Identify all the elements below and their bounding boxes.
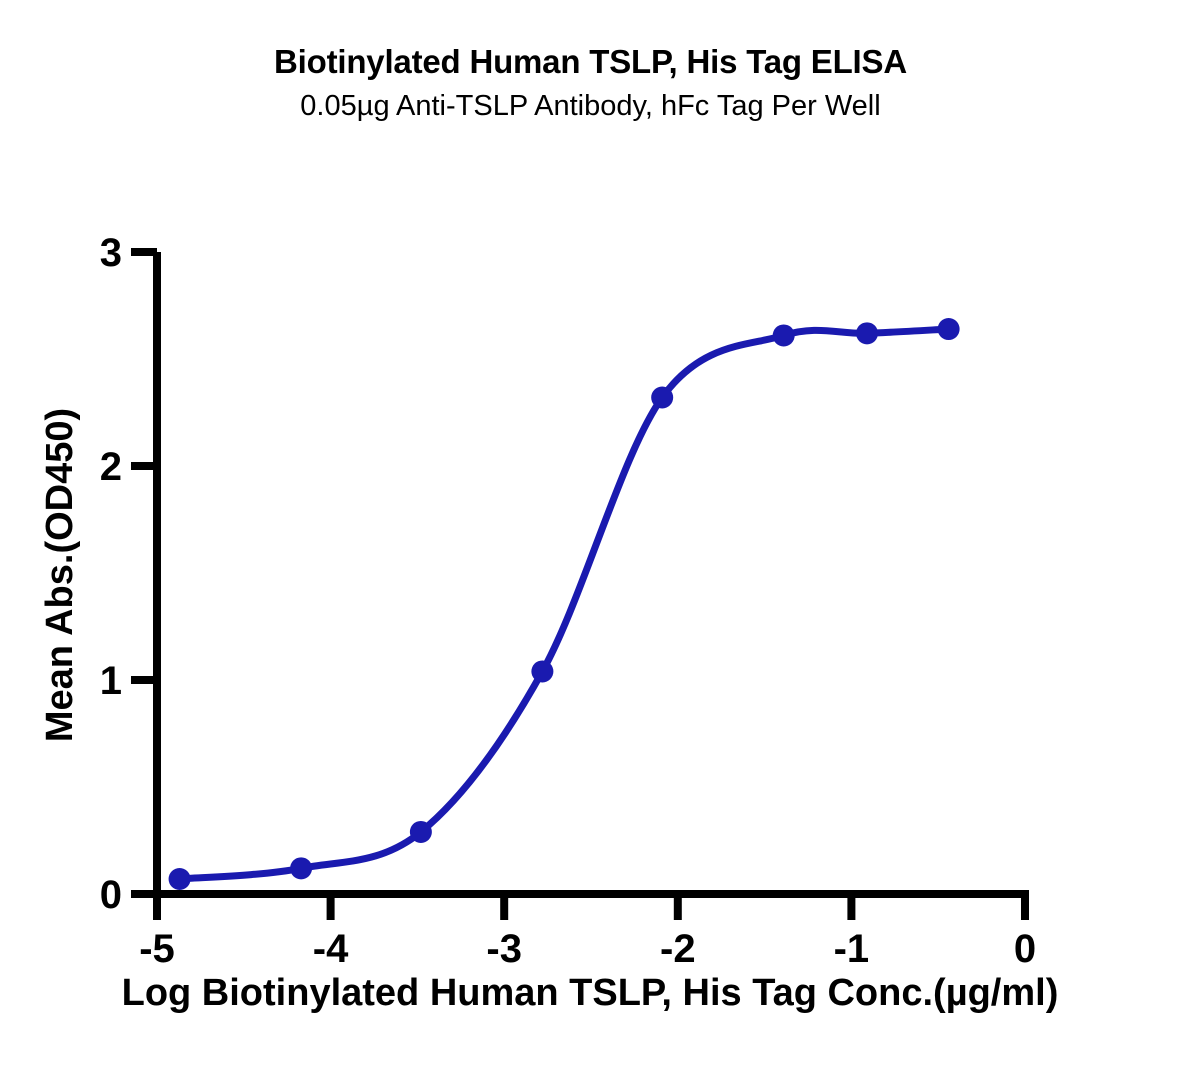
axis-lines (153, 252, 1029, 894)
plot-area: 0123 -5-4-3-2-10 Mean Abs.(OD450) Log Bi… (0, 0, 1181, 1065)
data-point (410, 821, 432, 843)
elisa-chart-figure: Biotinylated Human TSLP, His Tag ELISA 0… (0, 0, 1181, 1065)
x-tick-label: -4 (313, 927, 349, 971)
x-axis-tick-labels: -5-4-3-2-10 (139, 927, 1036, 971)
data-point (773, 324, 795, 346)
y-tick-label: 0 (100, 873, 122, 917)
y-tick-label: 2 (100, 445, 122, 489)
x-tick-label: -5 (139, 927, 175, 971)
data-point (169, 868, 191, 890)
x-tick-label: -2 (660, 927, 696, 971)
data-series-group (169, 318, 960, 890)
x-tick-label: -1 (834, 927, 870, 971)
y-axis-tick-labels: 0123 (100, 231, 122, 917)
x-tick-label: -3 (486, 927, 522, 971)
x-axis-title: Log Biotinylated Human TSLP, His Tag Con… (122, 972, 1059, 1014)
data-point (938, 318, 960, 340)
data-point (651, 387, 673, 409)
y-tick-label: 1 (100, 659, 122, 703)
x-tick-label: 0 (1014, 927, 1036, 971)
data-point (856, 322, 878, 344)
data-point (531, 660, 553, 682)
data-point (290, 857, 312, 879)
y-axis-title: Mean Abs.(OD450) (39, 408, 81, 742)
y-tick-label: 3 (100, 231, 122, 275)
series-line (180, 329, 949, 879)
